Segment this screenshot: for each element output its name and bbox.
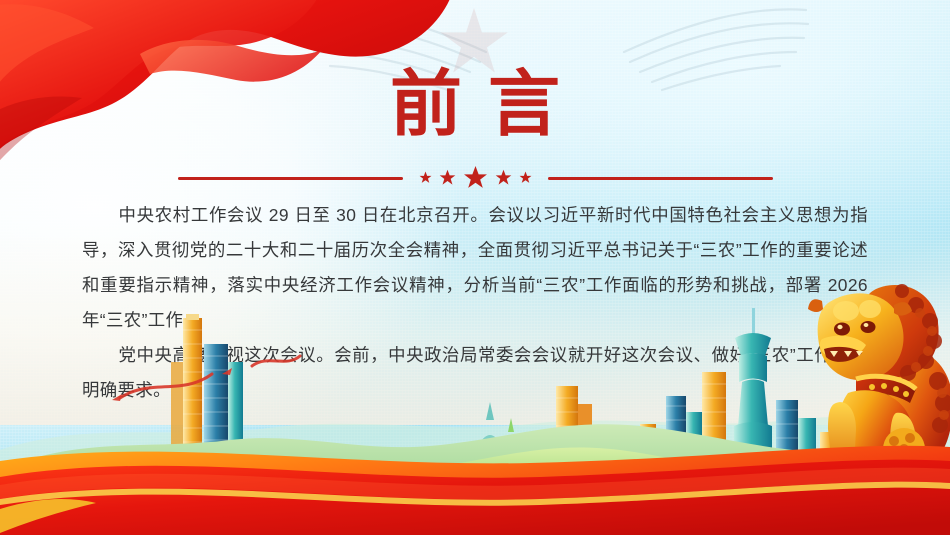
divider-rule-right [548,177,773,180]
star-icon [519,171,532,184]
star-icon [495,169,512,186]
star-icon [439,169,456,186]
star-icon [419,171,432,184]
divider-stars [403,165,548,190]
slide-canvas: 前言 中央农村工作会议 29 日至 30 日在北京召开。会议以习近平新时代中国特… [0,0,950,535]
red-ribbon-band [0,425,950,535]
page-title: 前言 [0,62,950,146]
star-icon [463,165,488,190]
divider-rule-left [178,177,403,180]
title-block: 前言 [0,62,950,146]
title-divider [0,166,950,190]
